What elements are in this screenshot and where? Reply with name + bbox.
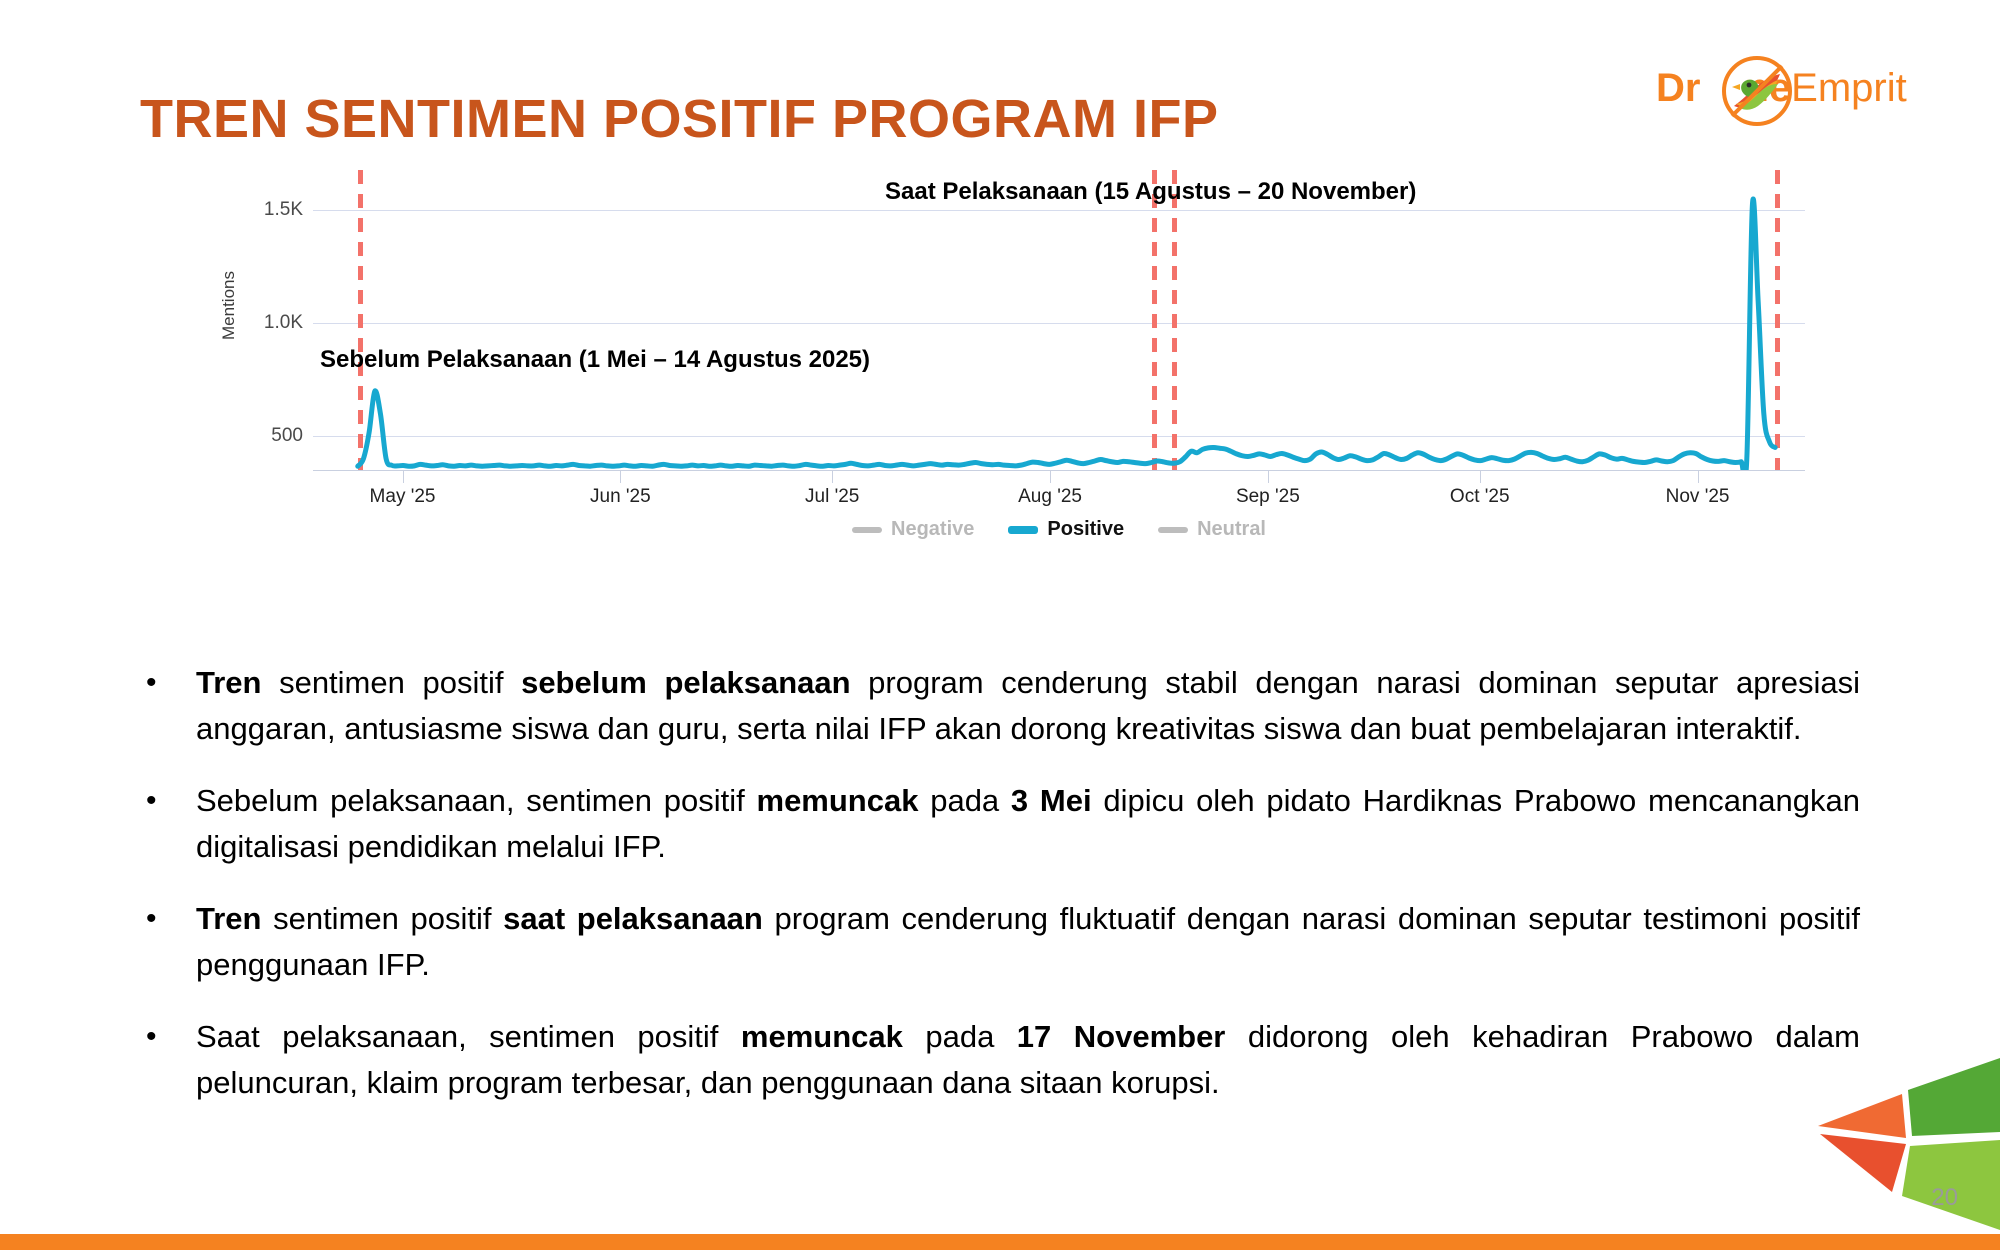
x-tick-label: Aug '25 (1018, 486, 1082, 508)
chart-legend: Negative Positive Neutral (852, 518, 1266, 541)
drone-emprit-bird-icon (1720, 54, 1794, 128)
x-tick (403, 470, 404, 483)
bullet-marker: • (140, 660, 196, 752)
y-axis-labels: 1.5K 1.0K 500 (225, 170, 303, 635)
bullet-text-puncak-17-november: Saat pelaksanaan, sentimen positif memun… (196, 1014, 1860, 1106)
bullet-marker: • (140, 1014, 196, 1106)
x-tick-label: Jul '25 (805, 486, 859, 508)
bullet-marker: • (140, 778, 196, 870)
list-item: • Tren sentimen positif saat pelaksanaan… (140, 896, 1860, 988)
x-tick-label: Jun '25 (590, 486, 651, 508)
x-tick-label: Sep '25 (1236, 486, 1300, 508)
legend-label-negative: Negative (891, 518, 974, 541)
y-tick-label: 1.5K (264, 199, 303, 221)
sentiment-trend-chart: Mentions 1.5K 1.0K 500 (225, 170, 1805, 635)
legend-swatch-positive (1008, 526, 1038, 534)
annotation-sebelum-pelaksanaan: Sebelum Pelaksanaan (1 Mei – 14 Agustus … (320, 346, 870, 374)
legend-item-positive[interactable]: Positive (1008, 518, 1124, 541)
page-number: 20 (1931, 1184, 1958, 1212)
x-tick (620, 470, 621, 483)
x-tick-label: Nov '25 (1666, 486, 1730, 508)
positive-sentiment-line (313, 170, 1805, 470)
list-item: • Tren sentimen positif sebelum pelaksan… (140, 660, 1860, 752)
bullet-marker: • (140, 896, 196, 988)
bottom-accent-bar (0, 1234, 2000, 1250)
list-item: • Sebelum pelaksanaan, sentimen positif … (140, 778, 1860, 870)
x-tick-label: May '25 (370, 486, 436, 508)
bullet-text-tren-sebelum: Tren sentimen positif sebelum pelaksanaa… (196, 660, 1860, 752)
legend-item-negative[interactable]: Negative (852, 518, 974, 541)
y-tick-label: 500 (271, 425, 303, 447)
axis-baseline (313, 470, 1805, 471)
x-tick (1050, 470, 1051, 483)
x-tick-label: Oct '25 (1450, 486, 1510, 508)
x-tick (832, 470, 833, 483)
page-title: TREN SENTIMEN POSITIF PROGRAM IFP (140, 88, 1219, 150)
x-tick (1480, 470, 1481, 483)
brand-logo-part1: Dr (1656, 66, 1700, 110)
brand-logo: DrneEmprit (1656, 52, 1956, 130)
list-item: • Saat pelaksanaan, sentimen positif mem… (140, 1014, 1860, 1106)
bullet-list: • Tren sentimen positif sebelum pelaksan… (140, 660, 1860, 1132)
slide-root: TREN SENTIMEN POSITIF PROGRAM IFP DrneEm… (0, 0, 2000, 1250)
corner-fan-decoration (1810, 1034, 2000, 1234)
annotation-saat-pelaksanaan: Saat Pelaksanaan (15 Agustus – 20 Novemb… (885, 178, 1416, 206)
legend-item-neutral[interactable]: Neutral (1158, 518, 1266, 541)
legend-label-positive: Positive (1047, 518, 1124, 541)
legend-label-neutral: Neutral (1197, 518, 1266, 541)
bullet-text-tren-saat: Tren sentimen positif saat pelaksanaan p… (196, 896, 1860, 988)
bullet-text-puncak-3-mei: Sebelum pelaksanaan, sentimen positif me… (196, 778, 1860, 870)
y-tick-label: 1.0K (264, 312, 303, 334)
legend-swatch-negative (852, 527, 882, 533)
legend-swatch-neutral (1158, 527, 1188, 533)
chart-plot-region: May '25 Jun '25 Jul '25 Aug '25 Sep '25 … (313, 170, 1805, 635)
x-tick (1698, 470, 1699, 483)
x-tick (1268, 470, 1269, 483)
brand-logo-part3: Emprit (1791, 66, 1907, 110)
